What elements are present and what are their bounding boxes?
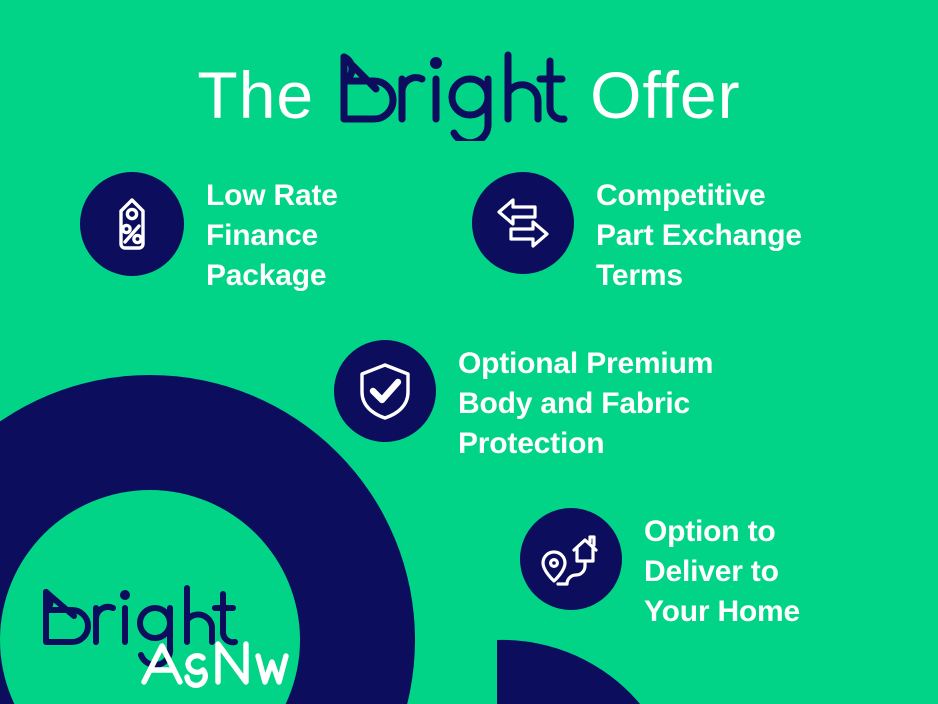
bright-logotype	[336, 49, 568, 141]
feature-badge	[472, 172, 574, 274]
feature-badge	[334, 340, 436, 442]
feature-item-part-exchange: Competitive Part Exchange Terms	[472, 172, 802, 296]
feature-badge	[80, 172, 184, 276]
feature-item-protection: Optional Premium Body and Fabric Protect…	[334, 340, 713, 464]
title-prefix: The	[197, 62, 314, 128]
feature-label: Option to Deliver to Your Home	[644, 508, 800, 632]
brand-logo-as-new	[40, 580, 300, 690]
feature-item-home-delivery: Option to Deliver to Your Home	[520, 508, 800, 632]
price-tag-percent-icon	[103, 195, 161, 253]
feature-label: Low Rate Finance Package	[206, 172, 338, 296]
feature-label: Optional Premium Body and Fabric Protect…	[458, 340, 713, 464]
exchange-arrows-icon	[493, 194, 553, 252]
feature-label: Competitive Part Exchange Terms	[596, 172, 802, 296]
poster-canvas: The	[0, 0, 938, 704]
feature-item-low-rate-finance: Low Rate Finance Package	[80, 172, 338, 296]
page-title: The	[0, 40, 938, 150]
delivery-route-home-icon	[540, 530, 602, 588]
shield-check-icon	[357, 361, 413, 421]
title-suffix: Offer	[590, 62, 741, 128]
logo-primary-wordmark	[46, 588, 235, 665]
decorative-wedge	[497, 640, 640, 704]
feature-badge	[520, 508, 622, 610]
